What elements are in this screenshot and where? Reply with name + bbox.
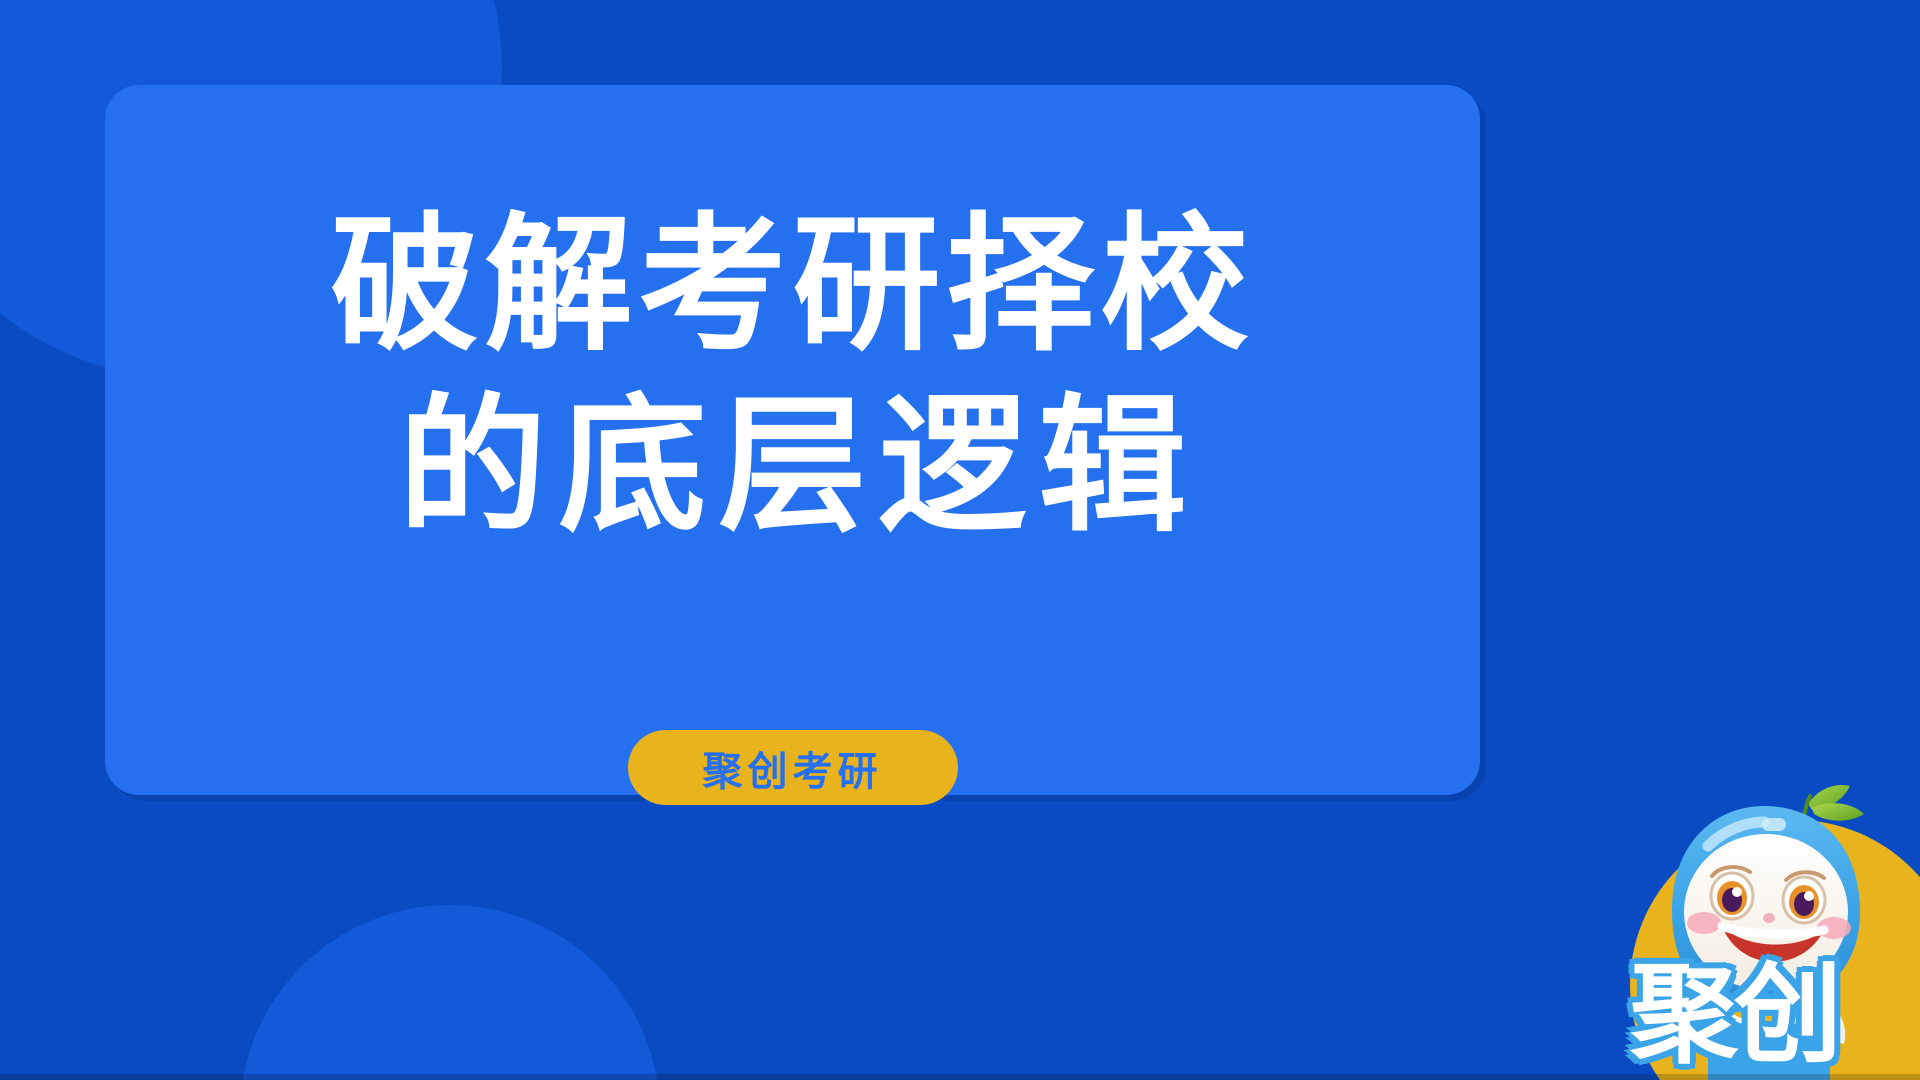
- page-title: 破解考研择校 的底层逻辑: [105, 195, 1480, 556]
- mascot-area: 聚创: [1590, 750, 1920, 1080]
- headline-line-2: 的底层逻辑: [105, 376, 1480, 557]
- bottom-edge-strip: [0, 1074, 1920, 1080]
- brand-badge-label: 聚创考研: [703, 739, 883, 797]
- brand-badge[interactable]: 聚创考研: [628, 730, 958, 805]
- leaf-icon: [1804, 785, 1864, 821]
- decorative-circle-bottom-left: [240, 905, 660, 1080]
- main-card: 破解考研择校 的底层逻辑 聚创考研: [105, 85, 1480, 795]
- mascot-nose: [1763, 913, 1775, 923]
- headline-line-1: 破解考研择校: [105, 195, 1480, 376]
- mascot-illustration: [1612, 760, 1912, 1080]
- mascot-character: [1612, 760, 1912, 1080]
- mascot-cheek-left: [1687, 912, 1721, 934]
- promo-poster: 破解考研择校 的底层逻辑 聚创考研: [0, 0, 1920, 1080]
